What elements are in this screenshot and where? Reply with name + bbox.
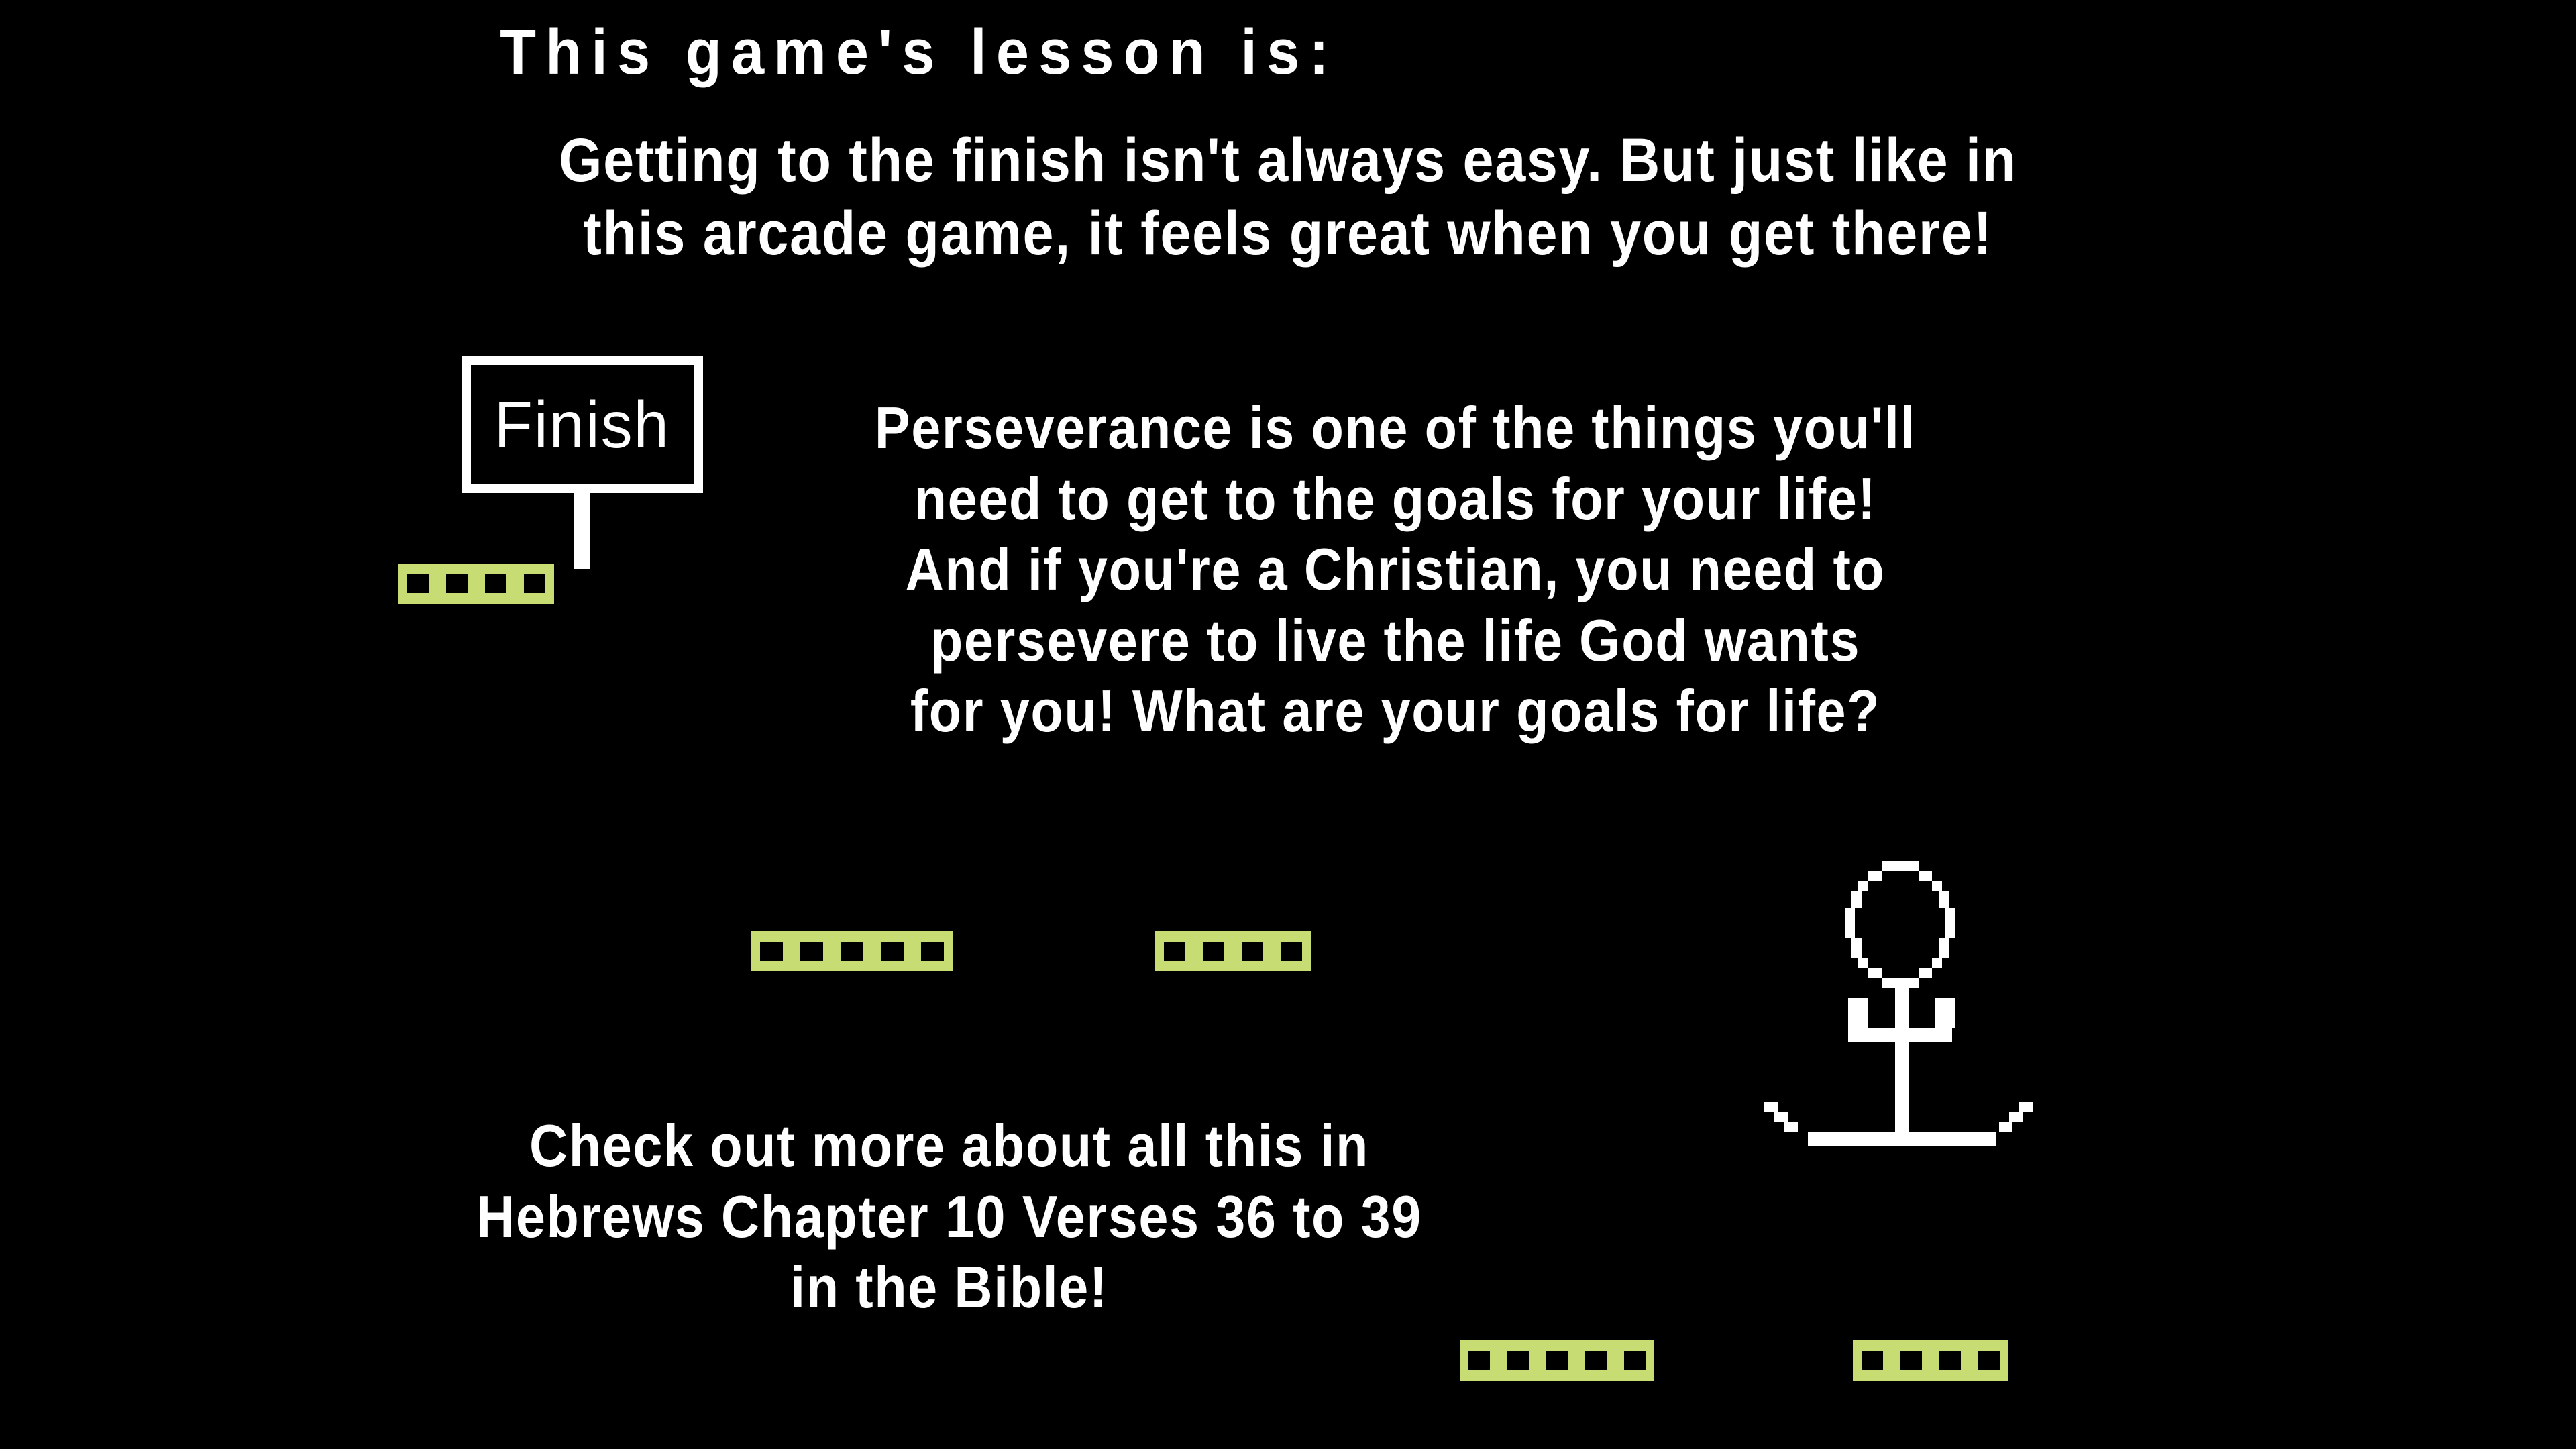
finish-sign-post — [574, 488, 590, 569]
platform-brick — [1194, 931, 1233, 971]
lesson-line-2: need to get to the goals for your life! — [914, 466, 1877, 532]
lesson-paragraph: Perseverance is one of the things you'll… — [610, 392, 2180, 747]
platform — [751, 931, 953, 971]
platform-brick — [1272, 931, 1311, 971]
platform-brick — [398, 563, 437, 604]
platform-brick — [515, 563, 554, 604]
platform-brick — [912, 931, 953, 971]
platform-brick — [437, 563, 476, 604]
platform — [1853, 1340, 2008, 1381]
platform — [1155, 931, 1311, 971]
platform-brick — [1892, 1340, 1931, 1381]
platform-brick — [832, 931, 872, 971]
platform-brick — [751, 931, 792, 971]
lesson-line-5: for you! What are your goals for life? — [910, 678, 1880, 744]
platform — [398, 563, 554, 604]
stick-figure-player — [1758, 851, 2039, 1156]
lesson-line-1: Perseverance is one of the things you'll — [875, 394, 1916, 461]
platform-brick — [1155, 931, 1194, 971]
bible-line-3: in the Bible! — [790, 1254, 1108, 1320]
intro-paragraph: Getting to the finish isn't always easy.… — [129, 124, 2447, 270]
lesson-line-3: And if you're a Christian, you need to — [906, 536, 1886, 602]
intro-line-1: Getting to the finish isn't always easy.… — [559, 126, 2017, 195]
platform-brick — [476, 563, 515, 604]
game-lesson-screen: This game's lesson is: Getting to the fi… — [0, 0, 2576, 1449]
platform-brick — [792, 931, 832, 971]
platform-brick — [1538, 1340, 1576, 1381]
platform-brick — [1853, 1340, 1892, 1381]
platform-brick — [1233, 931, 1272, 971]
intro-line-2: this arcade game, it feels great when yo… — [583, 199, 1993, 268]
platform-brick — [872, 931, 912, 971]
page-title: This game's lesson is: — [74, 20, 1765, 85]
platform-brick — [1460, 1340, 1499, 1381]
platform-brick — [1576, 1340, 1615, 1381]
platform-brick — [1970, 1340, 2008, 1381]
bible-reference: Check out more about all this in Hebrews… — [294, 1110, 1605, 1323]
lesson-line-4: persevere to live the life God wants — [930, 607, 1860, 674]
platform-brick — [1615, 1340, 1654, 1381]
platform-brick — [1499, 1340, 1538, 1381]
bible-line-2: Hebrews Chapter 10 Verses 36 to 39 — [476, 1183, 1422, 1250]
platform-brick — [1931, 1340, 1970, 1381]
platform — [1460, 1340, 1654, 1381]
bible-line-1: Check out more about all this in — [529, 1112, 1369, 1179]
stick-figure-icon — [1758, 851, 2039, 1156]
